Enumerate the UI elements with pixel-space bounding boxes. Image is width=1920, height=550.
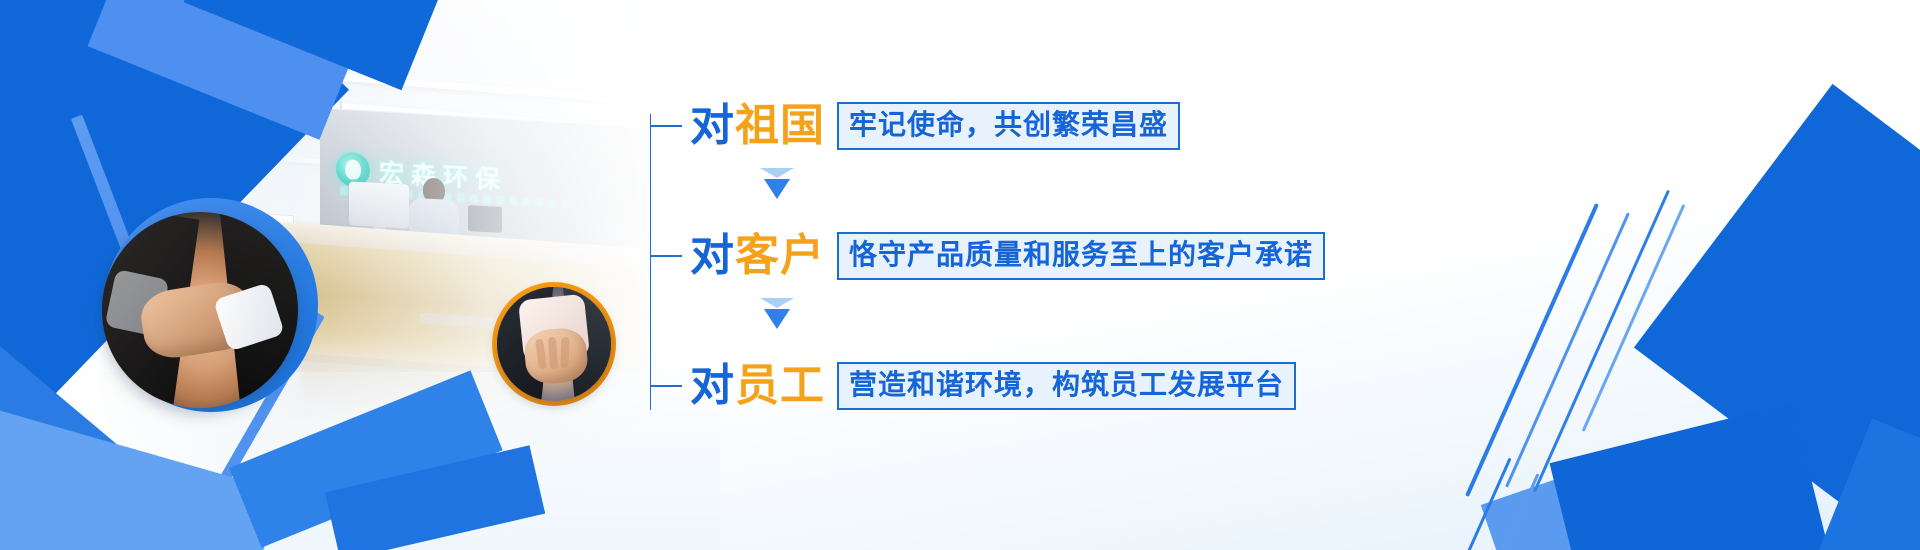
finger [560,337,569,368]
value-heading-subject: 祖国 [735,104,825,148]
circle-photo-clasped-hands [497,287,611,401]
values-list: 对祖国 牢记使命，共创繁荣昌盛 对客户 恪守产品质量和服务至上的客户承诺 对员工 [650,72,1430,462]
value-heading-prefix: 对 [690,234,735,278]
arrow-lower-wedge [764,179,790,199]
decor-polygon-bottom-right [1550,403,1841,550]
value-statement-2: 恪守产品质量和服务至上的客户承诺 [837,232,1325,280]
value-heading-subject: 员工 [735,364,825,408]
branch-tick-icon [650,125,682,127]
chevron-down-arrow-icon [760,298,794,329]
chevron-down-arrow-icon [760,168,794,199]
value-heading-1: 对祖国 [690,104,825,148]
value-row-3[interactable]: 对员工 营造和谐环境，构筑员工发展平台 [650,360,1296,412]
value-heading-2: 对客户 [690,234,825,278]
branch-tick-icon [650,255,682,257]
decor-stripe [1505,212,1630,487]
value-row-1[interactable]: 对祖国 牢记使命，共创繁荣昌盛 [650,100,1180,152]
corporate-values-banner: 宏森环保 [0,0,1920,550]
branch-tick-icon [650,385,682,387]
value-statement-3: 营造和谐环境，构筑员工发展平台 [837,362,1296,410]
circle-photo-handshake [102,212,298,408]
value-row-2[interactable]: 对客户 恪守产品质量和服务至上的客户承诺 [650,230,1325,282]
value-heading-subject: 客户 [735,234,825,278]
decor-stripe [1465,203,1599,497]
arrow-upper-wedge [760,298,794,308]
value-heading-prefix: 对 [690,104,735,148]
arrow-upper-wedge [760,168,794,178]
value-statement-1: 牢记使命，共创繁荣昌盛 [837,102,1180,150]
value-heading-prefix: 对 [690,364,735,408]
value-heading-3: 对员工 [690,364,825,408]
arrow-lower-wedge [764,309,790,329]
